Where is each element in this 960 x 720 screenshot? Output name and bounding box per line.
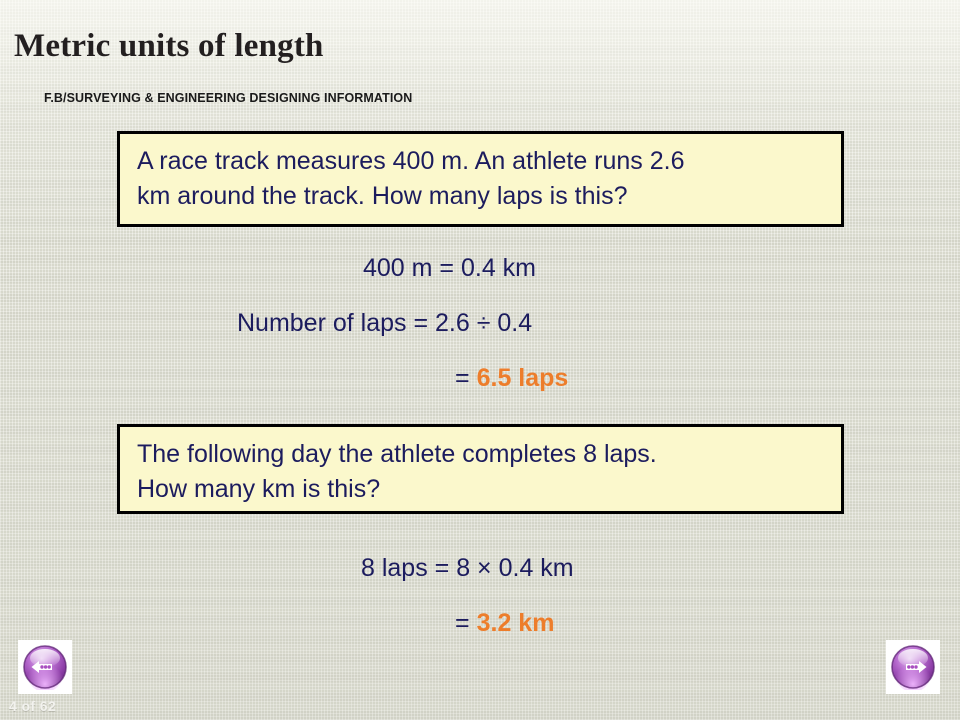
question-box-1: A race track measures 400 m. An athlete … xyxy=(117,131,844,227)
slide-subtitle: F.B/SURVEYING & ENGINEERING DESIGNING IN… xyxy=(44,90,412,106)
working-2-equals-sign: = xyxy=(455,609,470,637)
next-slide-button[interactable] xyxy=(886,640,940,694)
question-box-2: The following day the athlete completes … xyxy=(117,424,844,514)
working-1-equals-sign: = xyxy=(455,364,470,392)
working-1-line-1: 400 m = 0.4 km xyxy=(363,253,536,283)
working-1-line-3: =6.5 laps xyxy=(455,363,568,393)
previous-arrow-icon xyxy=(22,644,68,690)
previous-slide-button[interactable] xyxy=(18,640,72,694)
page-title: Metric units of length xyxy=(14,27,324,65)
slide-canvas: Metric units of length F.B/SURVEYING & E… xyxy=(0,0,960,720)
working-2-line-1: 8 laps = 8 × 0.4 km xyxy=(361,553,574,583)
working-1-answer: 6.5 laps xyxy=(477,364,569,392)
working-1-line-2: Number of laps = 2.6 ÷ 0.4 xyxy=(237,308,532,338)
question-box-2-line-1: The following day the athlete completes … xyxy=(137,437,827,472)
question-box-1-line-2: km around the track. How many laps is th… xyxy=(137,179,827,214)
question-box-2-line-2: How many km is this? xyxy=(137,472,827,507)
page-indicator: 4 of 62 xyxy=(9,697,56,715)
next-arrow-icon xyxy=(890,644,936,690)
question-box-1-line-1: A race track measures 400 m. An athlete … xyxy=(137,144,827,179)
working-2-line-2: =3.2 km xyxy=(455,608,554,638)
working-2-answer: 3.2 km xyxy=(477,609,555,637)
